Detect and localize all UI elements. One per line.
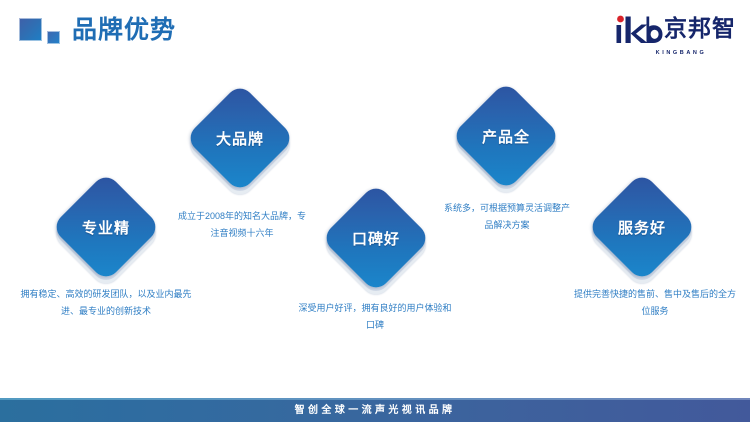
slide-footer: 智创全球一流声光视讯品牌	[0, 398, 750, 422]
footer-slogan: 智创全球一流声光视讯品牌	[295, 404, 456, 418]
advantage-caption-4: 系统多，可根据预算灵活调整产品解决方案	[441, 200, 573, 234]
header-square-large-icon	[19, 18, 42, 41]
page-title: 品牌优势	[72, 14, 176, 46]
advantage-card-1[interactable]: 专业精	[52, 173, 160, 281]
logo-name-en: KINGBANG	[640, 50, 722, 57]
diamond-shape-4: 产品全	[452, 82, 560, 190]
footer-divider	[0, 398, 750, 400]
diamond-shape-2: 大品牌	[186, 84, 294, 192]
advantage-card-4[interactable]: 产品全	[452, 82, 560, 190]
diamond-shape-3: 口碑好	[322, 184, 430, 292]
advantage-card-2[interactable]: 大品牌	[186, 84, 294, 192]
diamond-shape-1: 专业精	[52, 173, 160, 281]
header-square-small-icon	[47, 31, 60, 44]
advantage-label-1: 专业精	[52, 173, 160, 281]
logo-name-cn: 京邦智	[664, 16, 736, 40]
advantage-label-2: 大品牌	[186, 84, 294, 192]
diamond-shape-5: 服务好	[588, 173, 696, 281]
advantage-label-4: 产品全	[452, 82, 560, 190]
advantage-caption-3: 深受用户好评，拥有良好的用户体验和口碑	[295, 300, 455, 334]
advantage-card-5[interactable]: 服务好	[588, 173, 696, 281]
advantage-card-3[interactable]: 口碑好	[322, 184, 430, 292]
advantage-caption-5: 提供完善快捷的售前、售中及售后的全方位服务	[570, 286, 740, 320]
advantage-caption-2: 成立于2008年的知名大品牌，专注音视频十六年	[175, 208, 309, 242]
advantage-label-3: 口碑好	[322, 184, 430, 292]
advantage-caption-1: 拥有稳定、高效的研发团队，以及业内最先进、最专业的创新技术	[14, 286, 198, 320]
advantage-label-5: 服务好	[588, 173, 696, 281]
slide-brand-advantages: 品牌优势 京邦智 KINGBANG 专业精 拥有稳定、高效的研发团队，以及业内最…	[0, 0, 750, 422]
brand-logo: 京邦智 KINGBANG	[612, 12, 736, 48]
kb-monogram-icon	[612, 15, 664, 45]
